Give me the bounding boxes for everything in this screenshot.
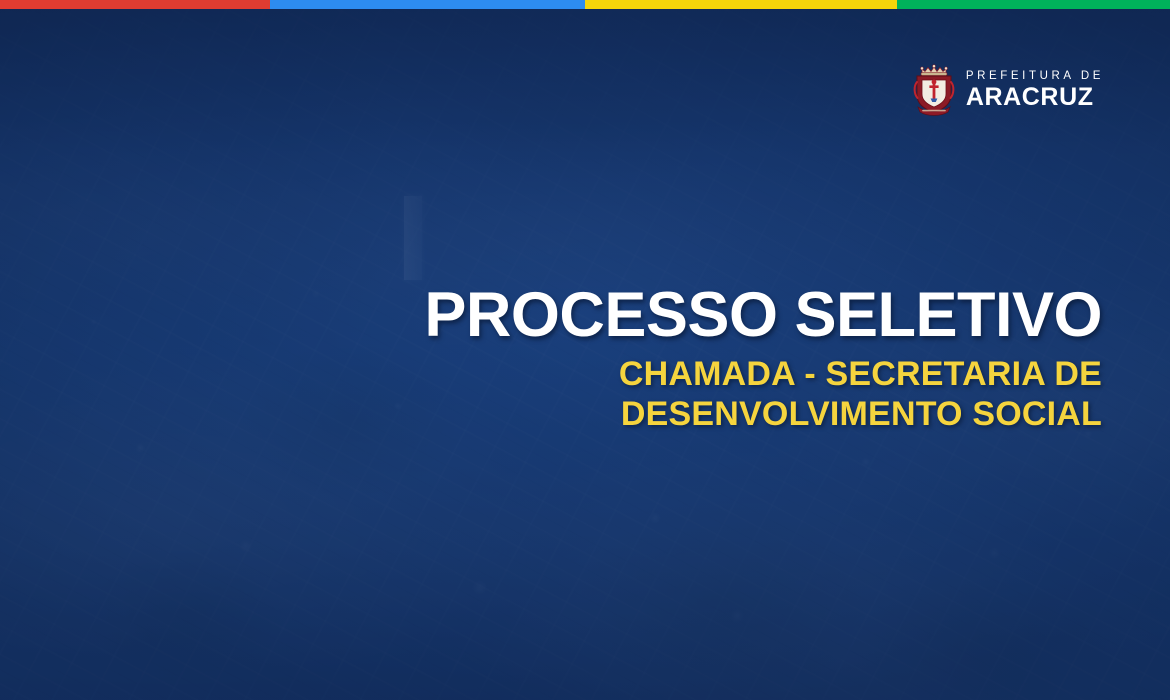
prefeitura-logo: PREFEITURA DE ARACRUZ xyxy=(912,62,1104,118)
processo-seletivo-banner: PREFEITURA DE ARACRUZ PROCESSO SELETIVO … xyxy=(0,0,1170,700)
headline-subtitle-line2: DESENVOLVIMENTO SOCIAL xyxy=(424,395,1102,435)
logo-wordmark: PREFEITURA DE ARACRUZ xyxy=(966,70,1104,110)
color-bar-blue-segment xyxy=(270,0,585,9)
color-bar-red-segment xyxy=(0,0,270,9)
logo-city-name: ARACRUZ xyxy=(966,85,1094,110)
headline-subtitle-line1: CHAMADA - SECRETARIA DE xyxy=(424,355,1102,395)
coat-of-arms-icon xyxy=(912,62,956,118)
brazil-flag-color-bar xyxy=(0,0,1170,9)
color-bar-green-segment xyxy=(897,0,1170,9)
headline-block: PROCESSO SELETIVO CHAMADA - SECRETARIA D… xyxy=(424,283,1102,435)
headline-title: PROCESSO SELETIVO xyxy=(424,283,1102,347)
color-bar-yellow-segment xyxy=(585,0,897,9)
logo-prefeitura-label: PREFEITURA DE xyxy=(966,70,1104,83)
